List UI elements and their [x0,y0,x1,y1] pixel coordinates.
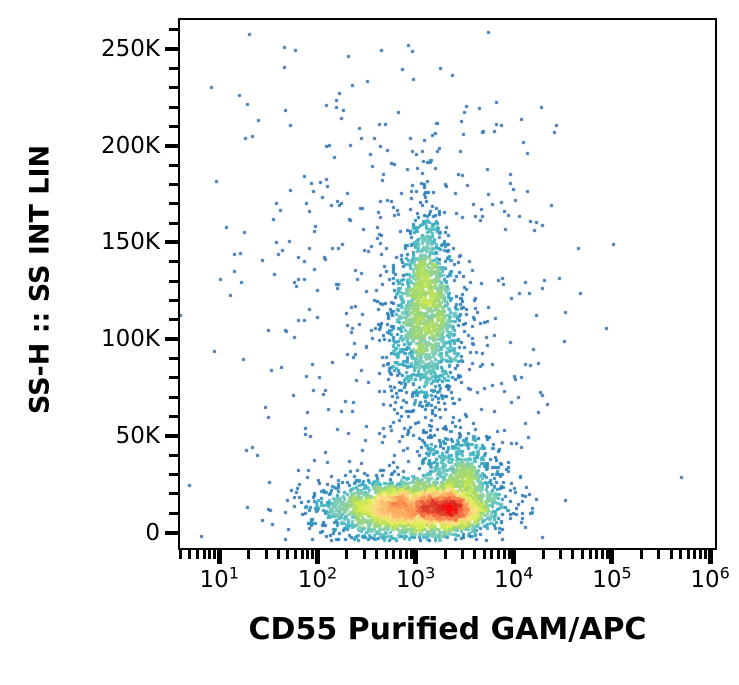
x-tick-minor [345,550,348,559]
x-tick-base: 10 [298,567,327,593]
x-tick-exponent: 1 [229,563,239,582]
x-tick-minor [399,550,402,559]
y-tick-major [165,531,178,535]
y-tick-major [165,434,178,438]
x-tick-minor [188,550,191,559]
x-tick-minor [208,550,211,559]
x-tick-minor [559,550,562,559]
y-tick-major [165,240,178,244]
y-tick-major [165,337,178,341]
y-tick-minor [169,357,178,360]
x-tick-minor [601,550,604,559]
x-tick-minor [196,550,199,559]
x-tick-label: 106 [690,567,729,593]
y-tick-label: 200K [101,133,160,159]
y-tick-minor [169,454,178,457]
y-tick-minor [169,318,178,321]
flow-cytometry-plot: 050K100K150K200K250K SS-H :: SS INT LIN … [0,0,739,685]
x-tick-minor [306,550,309,559]
y-tick-minor [169,28,178,31]
x-tick-minor [392,550,395,559]
x-tick-label: 105 [592,567,631,593]
x-axis-label: CD55 Purified GAM/APC [178,612,717,647]
x-tick-minor [503,550,506,559]
x-tick-major [413,550,418,564]
y-tick-minor [169,125,178,128]
y-tick-minor [169,280,178,283]
x-tick-minor [542,550,545,559]
y-tick-label: 100K [101,326,160,352]
x-tick-major [609,550,614,564]
x-tick-minor [571,550,574,559]
x-tick-exponent: 5 [621,563,631,582]
x-tick-base: 10 [200,567,229,593]
y-tick-minor [169,473,178,476]
y-tick-minor [169,67,178,70]
x-tick-minor [699,550,702,559]
y-tick-major [165,144,178,148]
y-tick-label: 250K [101,36,160,62]
x-tick-label: 101 [200,567,239,593]
y-tick-major [165,47,178,51]
y-tick-label: 0 [145,520,160,546]
x-tick-minor [301,550,304,559]
y-tick-minor [169,86,178,89]
x-tick-minor [179,550,182,559]
x-tick-minor [277,550,280,559]
x-tick-minor [444,550,447,559]
y-tick-label: 50K [116,423,160,449]
x-tick-minor [461,550,464,559]
y-tick-minor [169,106,178,109]
x-tick-minor [581,550,584,559]
y-tick-minor [169,415,178,418]
x-axis-ticks: 101102103104105106 [0,550,739,610]
x-tick-minor [497,550,500,559]
x-tick-minor [483,550,486,559]
x-tick-minor [405,550,408,559]
y-tick-minor [169,260,178,263]
x-tick-minor [490,550,493,559]
x-tick-minor [670,550,673,559]
y-tick-minor [169,376,178,379]
x-tick-major [708,550,713,564]
x-tick-minor [679,550,682,559]
x-tick-minor [473,550,476,559]
x-tick-minor [687,550,690,559]
y-axis-label: SS-H :: SS INT LIN [25,70,56,490]
x-tick-minor [385,550,388,559]
x-tick-major [511,550,516,564]
scatter-plot-canvas[interactable] [180,20,715,548]
y-tick-minor [169,222,178,225]
x-tick-major [217,550,222,564]
y-tick-label: 150K [101,229,160,255]
x-tick-exponent: 3 [425,563,435,582]
x-tick-minor [657,550,660,559]
x-tick-base: 10 [690,567,719,593]
y-tick-minor [169,183,178,186]
x-tick-minor [693,550,696,559]
y-tick-minor [169,492,178,495]
x-tick-minor [265,550,268,559]
x-tick-label: 102 [298,567,337,593]
y-tick-minor [169,299,178,302]
x-tick-minor [595,550,598,559]
x-tick-minor [247,550,250,559]
x-tick-base: 10 [396,567,425,593]
y-tick-minor [169,202,178,205]
x-tick-exponent: 6 [720,563,730,582]
x-tick-minor [375,550,378,559]
x-tick-base: 10 [494,567,523,593]
x-tick-minor [640,550,643,559]
x-tick-minor [286,550,289,559]
x-tick-minor [363,550,366,559]
y-tick-minor [169,164,178,167]
x-tick-exponent: 2 [327,563,337,582]
x-tick-minor [203,550,206,559]
x-tick-label: 103 [396,567,435,593]
x-tick-exponent: 4 [523,563,533,582]
x-tick-major [315,550,320,564]
y-tick-minor [169,512,178,515]
x-tick-minor [589,550,592,559]
x-tick-label: 104 [494,567,533,593]
x-tick-minor [294,550,297,559]
x-tick-base: 10 [592,567,621,593]
y-tick-minor [169,396,178,399]
